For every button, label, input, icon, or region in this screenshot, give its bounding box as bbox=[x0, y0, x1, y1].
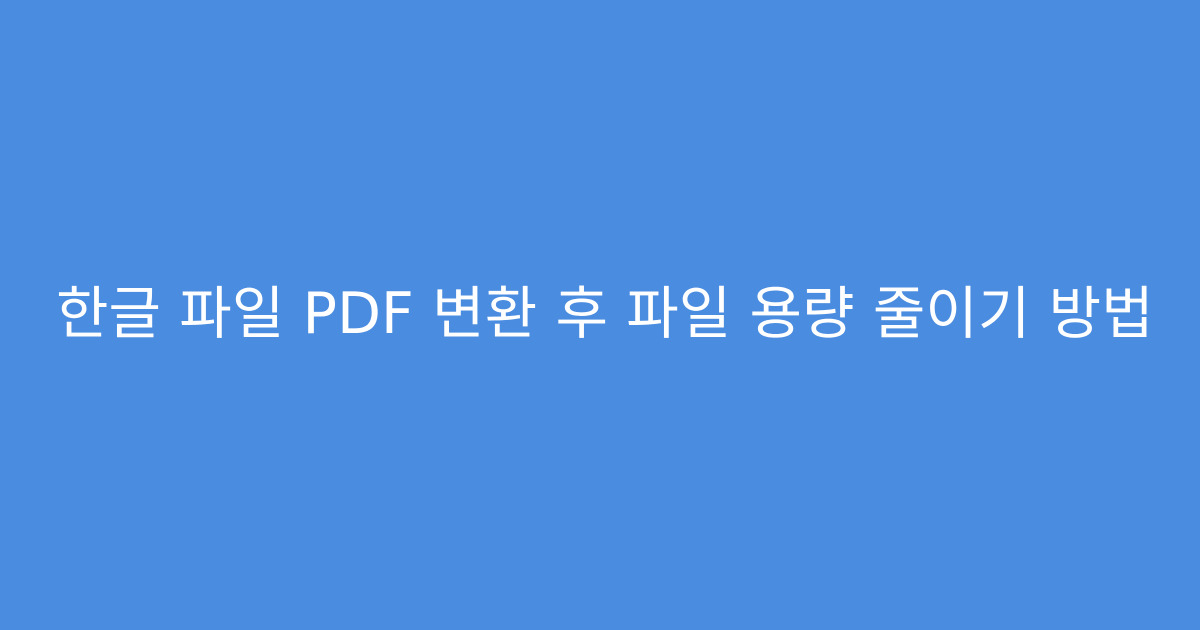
share-card: 한글 파일 PDF 변환 후 파일 용량 줄이기 방법 bbox=[0, 0, 1200, 630]
card-title: 한글 파일 PDF 변환 후 파일 용량 줄이기 방법 bbox=[56, 277, 1144, 352]
